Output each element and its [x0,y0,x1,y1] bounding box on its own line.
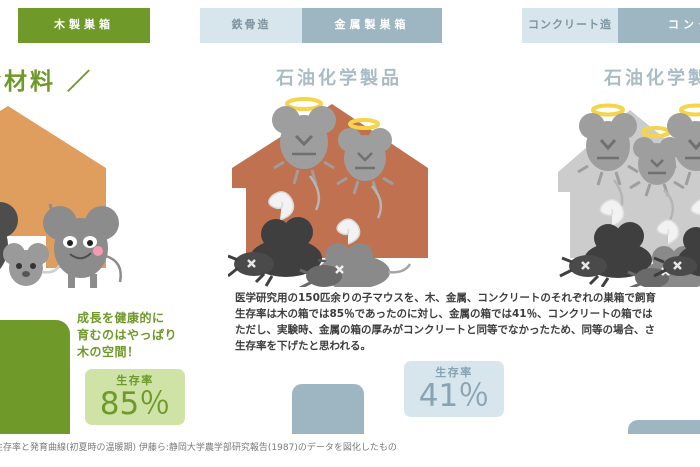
tab-group-wood: 木製巣箱 [18,8,150,43]
illustration-wood-house [0,96,180,288]
footer-caption: 生存率と発育曲線(初夏時の温暖期) 伊藤ら:静岡大学農学部研究報告(1987)の… [0,440,700,453]
survival-badge-wood: 生存率 85％ [85,369,185,425]
illustration-concrete-house [546,92,700,287]
body-copy-line-3: ただし、実験時、金属の箱の厚みがコンクリートと同等でなかったため、同等の場合、さ [235,322,700,338]
panel-concrete-section [628,420,700,434]
illustration-metal-house [228,92,434,287]
heading-wood-section: 命材料 ／ [0,62,93,96]
callout-line-1: 成長を健康的に [77,310,177,327]
survival-badge-wood-value: 85％ [85,387,185,421]
callout-wood-message: 成長を健康的に 育むのはやっぱり 木の空間！ [77,310,177,361]
body-copy: 医学研究用の150匹余りの子マウスを、木、金属、コンクリートのそれぞれの巣箱で飼… [235,290,700,354]
body-copy-line-1: 医学研究用の150匹余りの子マウスを、木、金属、コンクリートのそれぞれの巣箱で飼… [235,290,700,306]
survival-badge-metal: 生存率 41％ [404,361,504,417]
tab-bar: 木製巣箱 鉄骨造 金属製巣箱 コンクリート造 コンクリ [0,0,700,47]
body-copy-line-2: 生存率は木の箱では85％であったのに対し、金属の箱では41％、コンクリートの箱で… [235,306,700,322]
callout-line-3: 木の空間！ [77,344,177,361]
tab-group-metal: 鉄骨造 金属製巣箱 [200,8,442,43]
panel-wood-section [0,320,70,434]
tab-concrete-nestbox[interactable]: コンクリ [618,8,700,43]
tab-steel-structure[interactable]: 鉄骨造 [200,8,302,43]
survival-badge-metal-value: 41％ [404,379,504,413]
body-copy-line-4: 生存率を下げたと思われる。 [235,338,700,354]
tab-metal-nestbox[interactable]: 金属製巣箱 [302,8,442,43]
panel-metal-section [292,384,364,434]
tab-wood-nestbox[interactable]: 木製巣箱 [18,8,150,43]
callout-line-2: 育むのはやっぱり [77,327,177,344]
tab-group-concrete: コンクリート造 コンクリ [522,8,700,43]
heading-metal-section: 石油化学製品 [276,64,402,90]
heading-concrete-section: 石油化学製 [604,64,700,90]
tab-concrete-structure[interactable]: コンクリート造 [522,8,618,43]
